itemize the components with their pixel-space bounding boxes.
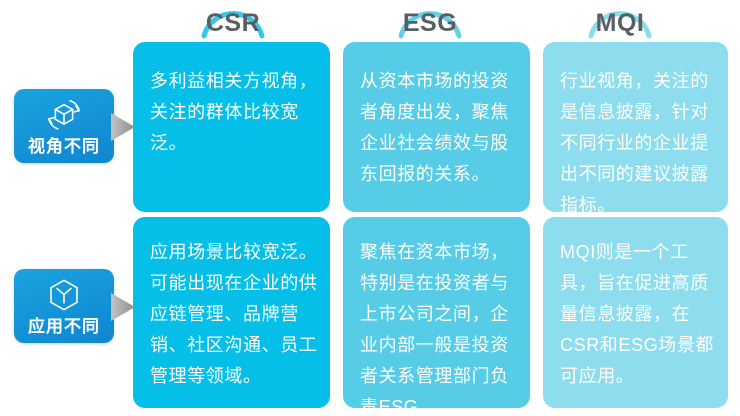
badge-perspective[interactable]: 视角不同 xyxy=(14,89,114,163)
card-mqi-perspective: 行业视角，关注的是信息披露，针对不同行业的企业提出不同的建议披露指标。 xyxy=(543,42,728,212)
card-text: 从资本市场的投资者角度出发，聚焦企业社会绩效与股东回报的关系。 xyxy=(360,66,518,190)
card-esg-application: 聚焦在资本市场，特别是在投资者与上市公司之间，企业内部一般是投资者关系管理部门负… xyxy=(343,217,530,408)
badge-label: 应用不同 xyxy=(14,317,114,337)
infographic-root: CSR ESG MQI 多利益相关方视角，关注的群体比较宽泛。 从资本市场的投资… xyxy=(0,0,740,416)
card-csr-application: 应用场景比较宽泛。可能出现在企业的供应链管理、品牌营销、社区沟通、员工管理等领域… xyxy=(133,217,330,408)
arrow-right-icon xyxy=(108,290,138,324)
badge-label: 视角不同 xyxy=(14,137,114,157)
column-header-mqi: MQI xyxy=(520,0,720,48)
column-title-csr: CSR xyxy=(133,8,333,38)
badge-application[interactable]: 应用不同 xyxy=(14,269,114,343)
card-text: 行业视角，关注的是信息披露，针对不同行业的企业提出不同的建议披露指标。 xyxy=(560,66,716,221)
column-header-csr: CSR xyxy=(133,0,333,48)
card-esg-perspective: 从资本市场的投资者角度出发，聚焦企业社会绩效与股东回报的关系。 xyxy=(343,42,530,212)
card-csr-perspective: 多利益相关方视角，关注的群体比较宽泛。 xyxy=(133,42,330,212)
column-title-mqi: MQI xyxy=(520,8,720,38)
card-text: 应用场景比较宽泛。可能出现在企业的供应链管理、品牌营销、社区沟通、员工管理等领域… xyxy=(150,237,318,392)
arrow-right-icon xyxy=(108,110,138,144)
card-text: 多利益相关方视角，关注的群体比较宽泛。 xyxy=(150,66,318,159)
rotating-cube-icon xyxy=(43,96,85,134)
column-header-esg: ESG xyxy=(330,0,530,48)
hexagon-cube-icon xyxy=(43,276,85,314)
card-text: MQI则是一个工具，旨在促进高质量信息披露，在CSR和ESG场景都可应用。 xyxy=(560,237,716,392)
column-title-esg: ESG xyxy=(330,8,530,38)
card-mqi-application: MQI则是一个工具，旨在促进高质量信息披露，在CSR和ESG场景都可应用。 xyxy=(543,217,728,408)
card-text: 聚焦在资本市场，特别是在投资者与上市公司之间，企业内部一般是投资者关系管理部门负… xyxy=(360,237,518,416)
